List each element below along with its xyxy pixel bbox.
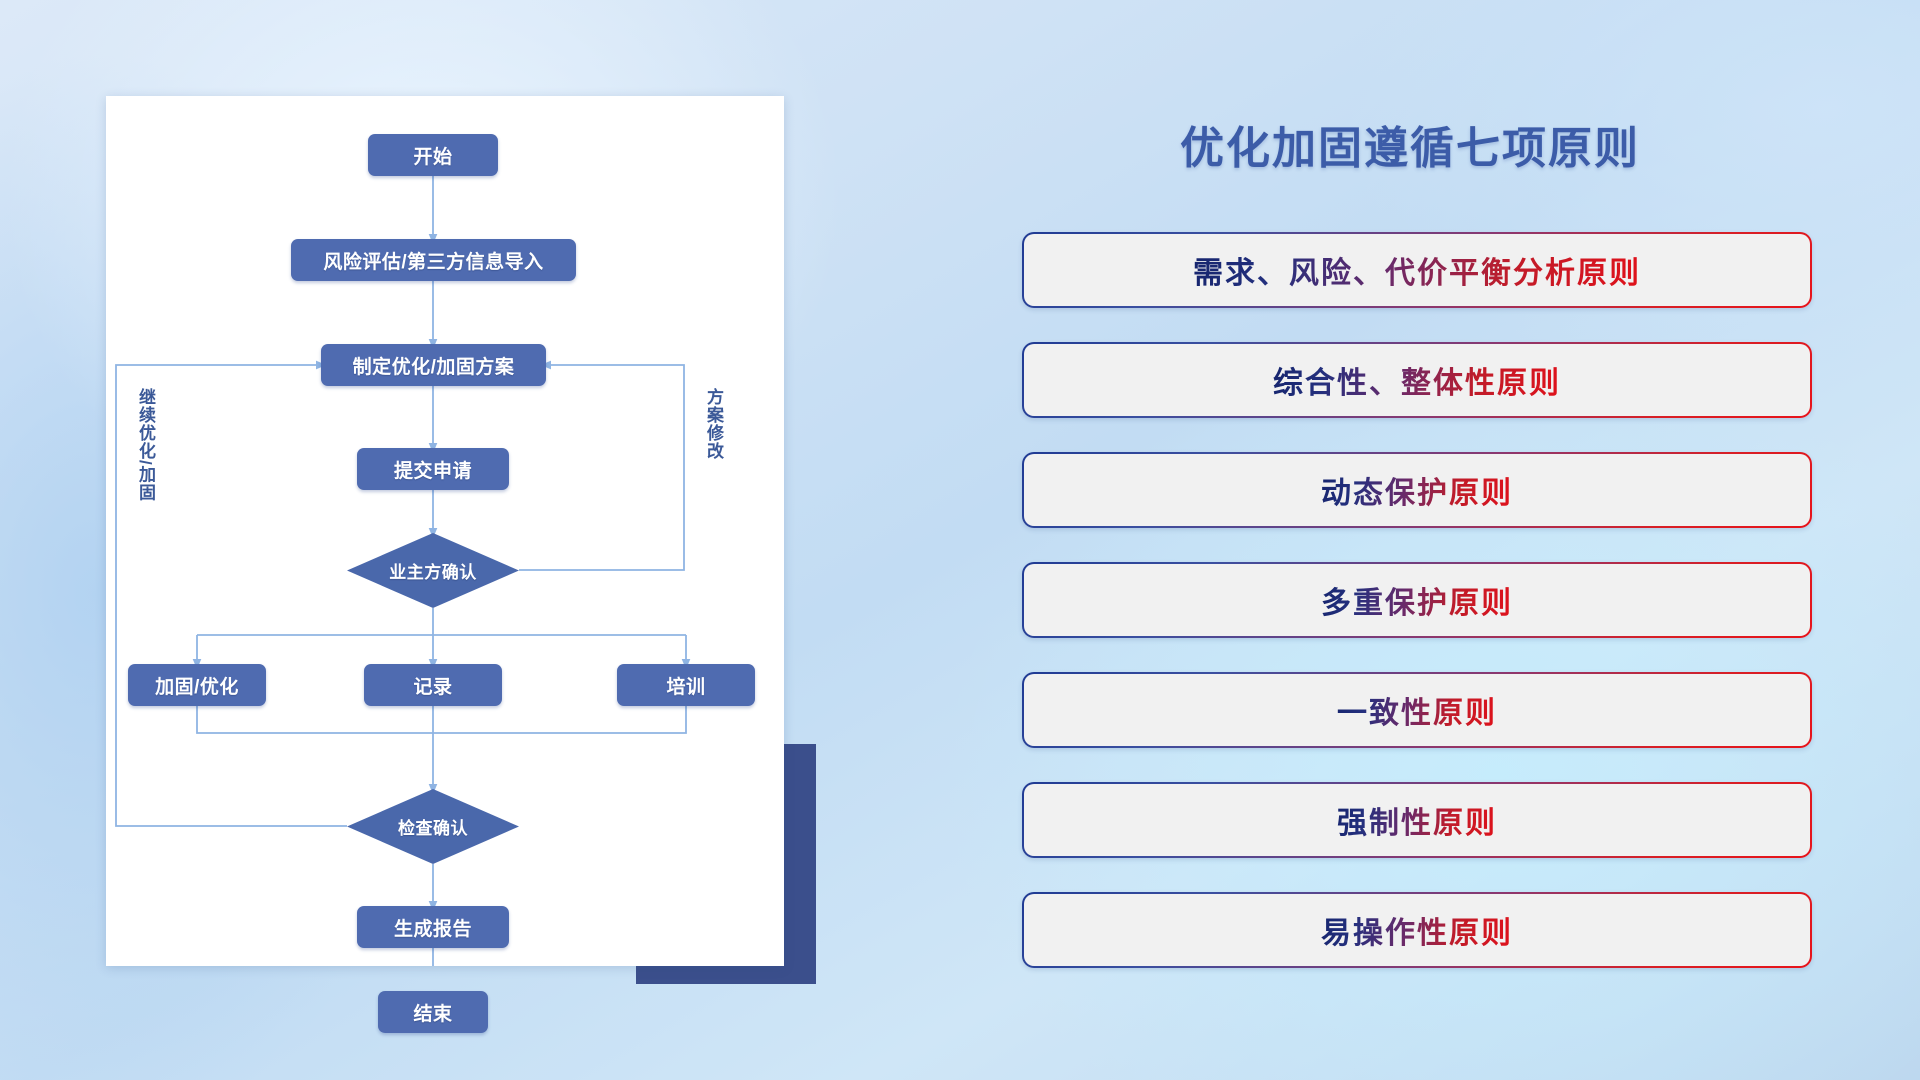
flow-node-record[interactable]: 记录 bbox=[364, 664, 502, 706]
flow-node-label: 加固/优化 bbox=[155, 672, 239, 699]
principle-item[interactable]: 多重保护原则 bbox=[1022, 562, 1812, 638]
principle-item-inner: 需求、风险、代价平衡分析原则 bbox=[1024, 234, 1810, 306]
principle-item-inner: 强制性原则 bbox=[1024, 784, 1810, 856]
flow-node-check-confirm[interactable]: 检查确认 bbox=[347, 789, 519, 864]
flow-node-label: 生成报告 bbox=[394, 914, 472, 941]
flow-node-submit-application[interactable]: 提交申请 bbox=[357, 448, 509, 490]
flow-edge-label-left: 继续优化/加固 bbox=[136, 388, 154, 502]
flow-node-label: 记录 bbox=[413, 672, 452, 699]
principle-label: 综合性、整体性原则 bbox=[1273, 358, 1561, 402]
flow-node-label: 结束 bbox=[413, 999, 452, 1026]
flow-node-risk-assessment[interactable]: 风险评估/第三方信息导入 bbox=[291, 239, 576, 281]
principle-label: 动态保护原则 bbox=[1321, 468, 1513, 512]
flow-node-training[interactable]: 培训 bbox=[617, 664, 755, 706]
principle-label: 需求、风险、代价平衡分析原则 bbox=[1193, 248, 1641, 292]
principle-item-inner: 易操作性原则 bbox=[1024, 894, 1810, 966]
principle-label: 一致性原则 bbox=[1337, 688, 1497, 732]
principle-item-inner: 多重保护原则 bbox=[1024, 564, 1810, 636]
flowchart-card: 开始 风险评估/第三方信息导入 制定优化/加固方案 提交申请 业主方确认 加固/… bbox=[106, 96, 784, 966]
principle-item-inner: 一致性原则 bbox=[1024, 674, 1810, 746]
flow-node-label: 培训 bbox=[666, 672, 705, 699]
flow-node-label: 提交申请 bbox=[394, 456, 472, 483]
principle-label: 强制性原则 bbox=[1337, 798, 1497, 842]
flow-node-generate-report[interactable]: 生成报告 bbox=[357, 906, 509, 948]
flow-node-label: 风险评估/第三方信息导入 bbox=[323, 247, 543, 274]
flow-node-owner-confirm[interactable]: 业主方确认 bbox=[347, 533, 519, 608]
flow-node-label: 开始 bbox=[413, 142, 452, 169]
principle-item[interactable]: 综合性、整体性原则 bbox=[1022, 342, 1812, 418]
principle-item[interactable]: 强制性原则 bbox=[1022, 782, 1812, 858]
principle-list: 需求、风险、代价平衡分析原则 综合性、整体性原则 动态保护原则 多重保护原则 一… bbox=[1022, 232, 1812, 1002]
flow-node-label: 制定优化/加固方案 bbox=[353, 352, 515, 379]
page-title: 优化加固遵循七项原则 bbox=[1020, 112, 1800, 176]
principle-item[interactable]: 动态保护原则 bbox=[1022, 452, 1812, 528]
principle-item[interactable]: 易操作性原则 bbox=[1022, 892, 1812, 968]
flow-node-label: 业主方确认 bbox=[389, 558, 477, 583]
flow-node-end[interactable]: 结束 bbox=[378, 991, 488, 1033]
principle-item-inner: 动态保护原则 bbox=[1024, 454, 1810, 526]
principle-item[interactable]: 一致性原则 bbox=[1022, 672, 1812, 748]
principle-label: 多重保护原则 bbox=[1321, 578, 1513, 622]
flow-node-label: 检查确认 bbox=[398, 814, 468, 839]
flow-node-start[interactable]: 开始 bbox=[368, 134, 498, 176]
flow-node-reinforce[interactable]: 加固/优化 bbox=[128, 664, 266, 706]
flow-edge-label-right: 方案修改 bbox=[704, 388, 722, 460]
principle-item-inner: 综合性、整体性原则 bbox=[1024, 344, 1810, 416]
principle-item[interactable]: 需求、风险、代价平衡分析原则 bbox=[1022, 232, 1812, 308]
flow-node-plan[interactable]: 制定优化/加固方案 bbox=[321, 344, 546, 386]
principle-label: 易操作性原则 bbox=[1321, 908, 1513, 952]
